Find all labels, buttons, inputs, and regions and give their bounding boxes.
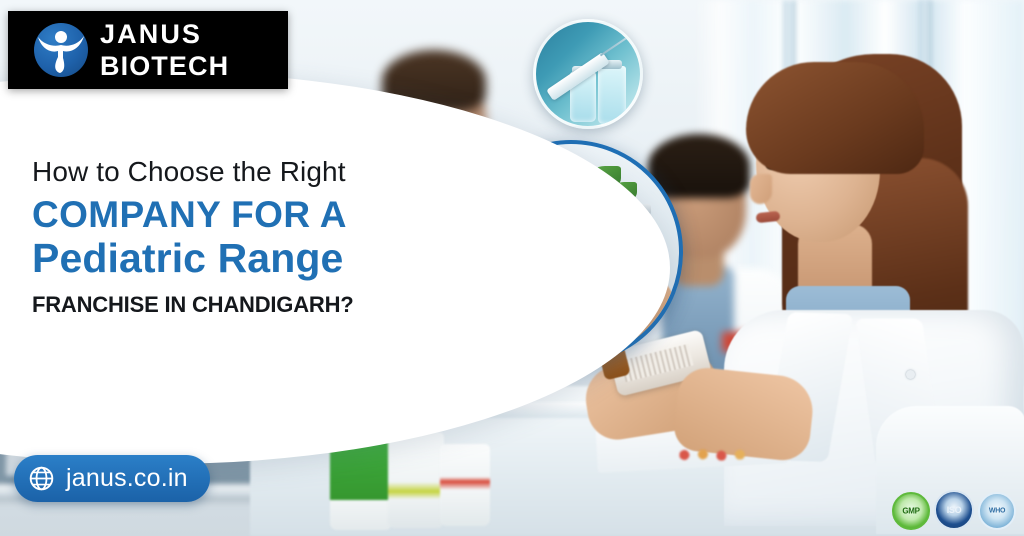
who-gmp-certification-badge[interactable]: WHO xyxy=(978,492,1016,530)
website-url-pill[interactable]: janus.co.in xyxy=(14,455,210,502)
headline-line-1: How to Choose the Right xyxy=(32,155,472,188)
gmp-certification-badge[interactable]: GMP xyxy=(892,492,930,530)
logo-text-line2: BIOTECH xyxy=(100,53,282,80)
iso-badge-label: ISO xyxy=(947,505,962,515)
logo-text-line1: JANUS xyxy=(100,21,282,48)
headline-line-3: Pediatric Range xyxy=(32,236,472,281)
certification-badges: GMP ISO WHO xyxy=(892,490,1016,530)
headline-block: How to Choose the Right COMPANY FOR A Pe… xyxy=(32,155,472,318)
promotional-banner: JANUS BIOTECH How to Choose the Right CO… xyxy=(0,0,1024,536)
counter-bottle-white xyxy=(388,432,444,528)
brand-logo[interactable]: JANUS BIOTECH xyxy=(8,11,288,89)
headline-line-2: COMPANY FOR A xyxy=(32,194,472,235)
headline-line-4: FRANCHISE IN CHANDIGARH? xyxy=(32,292,472,318)
logo-circle xyxy=(34,23,88,77)
who-badge-label: WHO xyxy=(989,508,1005,515)
website-url-text: janus.co.in xyxy=(66,464,188,493)
human-figure-icon xyxy=(34,23,88,77)
syringe-and-vials-photo xyxy=(533,19,643,129)
loose-pills xyxy=(676,448,760,462)
gmp-badge-label: GMP xyxy=(902,507,919,516)
counter-bottle-red xyxy=(440,444,490,526)
iso-certification-badge[interactable]: ISO xyxy=(934,490,974,530)
globe-icon xyxy=(28,465,55,492)
